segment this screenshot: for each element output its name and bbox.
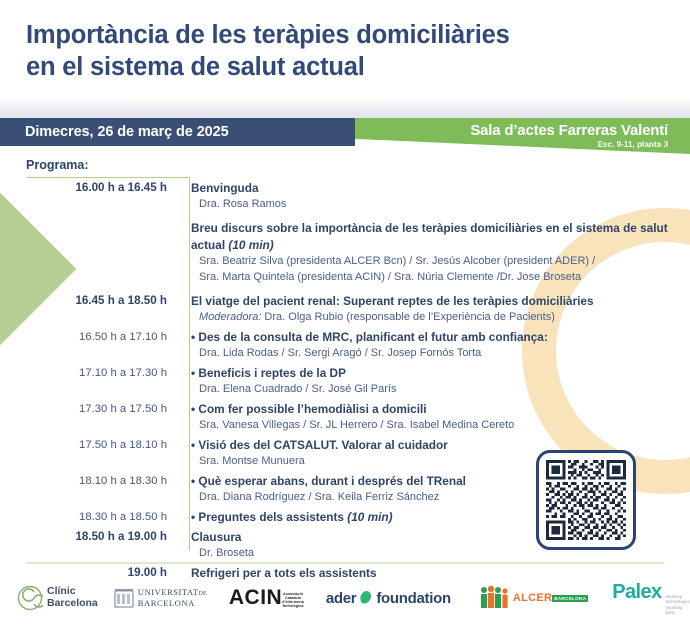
ader-leaf-icon [357, 590, 375, 606]
ub-line-2: BARCELONA [138, 598, 207, 609]
row-detail: • Com fer possible l’hemodiàlisi a domic… [178, 401, 678, 434]
palex-tagline-1: meaning technologies [666, 594, 690, 604]
alcer-people-icon [477, 586, 513, 610]
row-speakers: Dra. Elena Cuadrado / Sr. José Gil París [191, 382, 678, 398]
row-title: • Com fer possible l’hemodiàlisi a domic… [191, 401, 678, 418]
foundation-word: foundation [376, 590, 450, 607]
row-title-duration: (10 min) [347, 510, 392, 524]
row-title: • Des de la consulta de MRC, planificant… [191, 329, 678, 346]
row-speakers: Dra. Lida Rodas / Sr. Sergi Aragó / Sr. … [191, 346, 678, 362]
row-time: 16.50 h a 17.10 h [0, 329, 178, 345]
date-venue-bar: Dimecres, 26 de març de 2025 Sala d’acte… [0, 118, 690, 154]
row-title: El viatge del pacient renal: Superant re… [191, 293, 678, 310]
row-title-text: Què esperar abans, durant i després del … [198, 474, 466, 488]
venue-bar: Sala d’actes Farreras Valentí Esc. 9-11,… [355, 118, 690, 154]
row-time: 18.50 h a 19.00 h [0, 529, 178, 546]
logo-acin: ACIN Associació Catalana d'Infermeria Ne… [229, 587, 304, 609]
moderator-label: Moderadora: [199, 311, 261, 323]
title-line-2: en el sistema de salut actual [26, 52, 664, 84]
venue-name: Sala d’actes Farreras Valentí [355, 118, 668, 139]
row-detail: • Des de la consulta de MRC, planificant… [178, 329, 678, 362]
row-time: 17.50 h a 18.10 h [0, 437, 178, 453]
qr-code-container[interactable] [536, 450, 636, 550]
poster: Importància de les teràpies domiciliàrie… [0, 0, 690, 628]
clinic-swirl-icon [17, 585, 43, 611]
logo-palex: Palex meaning technologies meaning lives [612, 581, 689, 615]
row-title-text: Beneficis i reptes de la DP [198, 366, 346, 380]
row-speakers-2: Sra. Marta Quintela (presidenta ACIN) / … [191, 270, 678, 286]
row-title-text: Des de la consulta de MRC, planificant e… [198, 330, 547, 344]
program-label: Programa: [26, 158, 89, 172]
row-time: 18.30 h a 18.50 h [0, 509, 178, 525]
row-title: Breu discurs sobre la importància de les… [191, 220, 678, 254]
event-date: Dimecres, 26 de març de 2025 [0, 124, 229, 140]
program-row: 17.10 h a 17.30 h • Beneficis i reptes d… [0, 365, 690, 398]
row-speakers: Sra. Beatriz Silva (presidenta ALCER Bcn… [191, 254, 678, 270]
program-row: 17.30 h a 17.50 h • Com fer possible l’h… [0, 401, 690, 434]
venue-address: Esc. 9-11, planta 3 [355, 139, 668, 149]
row-time: 17.30 h a 17.50 h [0, 401, 178, 417]
footer-logos: Clínic Barcelona UNIVERSITATDE BARCELONA… [0, 568, 690, 628]
title-line-1: Importància de les teràpies domiciliàrie… [26, 20, 664, 52]
row-detail: • Beneficis i reptes de la DP Dra. Elena… [178, 365, 678, 398]
program-row: Breu discurs sobre la importància de les… [0, 220, 690, 286]
row-detail: Breu discurs sobre la importància de les… [178, 220, 678, 286]
row-detail: El viatge del pacient renal: Superant re… [178, 293, 678, 326]
program-top-rule [26, 177, 190, 178]
alcer-city: BARCELONA [552, 595, 588, 602]
bullet-marker: • [191, 474, 195, 488]
logo-alcer-barcelona: ALCER BARCELONA [477, 586, 588, 610]
acin-main-text: ACIN [229, 586, 282, 609]
ub-text: UNIVERSITATDE BARCELONA [138, 587, 207, 609]
bullet-marker: • [191, 402, 195, 416]
program-row: 16.50 h a 17.10 h • Des de la consulta d… [0, 329, 690, 362]
row-title: Benvinguda [191, 180, 678, 197]
row-time: 17.10 h a 17.30 h [0, 365, 178, 381]
palex-wordmark: Palex [612, 581, 661, 604]
program-row: 16.45 h a 18.50 h El viatge del pacient … [0, 293, 690, 326]
row-title-text: Visió des del CATSALUT. Valorar al cuida… [198, 438, 447, 452]
qr-code-icon [546, 460, 626, 540]
bullet-marker: • [191, 510, 195, 524]
ub-line-1: UNIVERSITATDE [138, 587, 207, 599]
row-speakers: Sra. Vanesa Villegas / Sr. JL Herrero / … [191, 418, 678, 434]
row-time: 16.00 h a 16.45 h [0, 180, 178, 197]
moderator-name: Dra. Olga Rubio (responsable de l’Experi… [261, 311, 555, 323]
palex-tagline: meaning technologies meaning lives [666, 594, 690, 615]
row-detail: Benvinguda Dra. Rosa Ramos [178, 180, 678, 213]
logo-clinic-barcelona: Clínic Barcelona [17, 585, 98, 611]
bullet-marker: • [191, 366, 195, 380]
row-speakers: Dra. Rosa Ramos [191, 197, 678, 213]
gray-divider-strip [0, 99, 690, 118]
clinic-text: Clínic Barcelona [47, 586, 98, 610]
row-title-text: Com fer possible l’hemodiàlisi a domicil… [198, 402, 426, 416]
ader-word: ader [326, 590, 357, 607]
bullet-marker: • [191, 330, 195, 344]
row-time: 16.45 h a 18.50 h [0, 293, 178, 310]
row-moderator: Moderadora: Dra. Olga Rubio (responsable… [191, 310, 678, 326]
logo-ader-foundation: ader foundation [326, 590, 451, 607]
page-title: Importància de les teràpies domiciliàrie… [0, 0, 690, 100]
clinic-line-2: Barcelona [47, 598, 98, 610]
alcer-name: ALCER [513, 593, 552, 604]
acin-wordmark: ACIN [229, 587, 282, 609]
ub-crest-icon [114, 587, 134, 609]
palex-tagline-2: meaning lives [666, 605, 682, 615]
bullet-marker: • [191, 438, 195, 452]
row-title: • Beneficis i reptes de la DP [191, 365, 678, 382]
logo-universitat-barcelona: UNIVERSITATDE BARCELONA [114, 587, 207, 609]
date-bar: Dimecres, 26 de març de 2025 [0, 118, 355, 146]
acin-subtitle: Associació Catalana d'Infermeria Nefrolò… [282, 592, 304, 608]
row-title-duration: (10 min) [228, 238, 273, 252]
row-title-text: Preguntes dels assistents [198, 510, 344, 524]
row-time: 18.10 h a 18.30 h [0, 473, 178, 489]
program-row: 16.00 h a 16.45 h Benvinguda Dra. Rosa R… [0, 180, 690, 213]
